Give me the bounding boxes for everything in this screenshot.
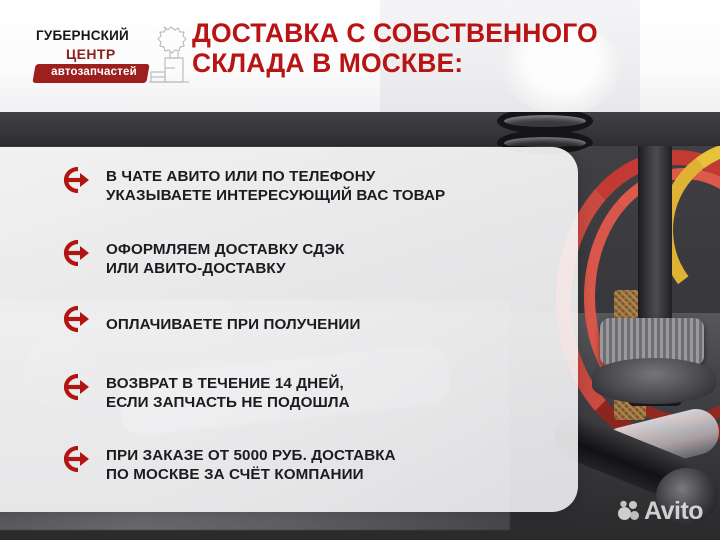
list-item: В ЧАТЕ АВИТО ИЛИ ПО ТЕЛЕФОНУ УКАЗЫВАЕТЕ …	[58, 150, 578, 222]
logo-line-2: ЦЕНТР	[66, 46, 116, 62]
list-item: ОПЛАЧИВАЕТЕ ПРИ ПОЛУЧЕНИИ	[58, 296, 578, 354]
list-item-label: ОПЛАЧИВАЕТЕ ПРИ ПОЛУЧЕНИИ	[106, 315, 360, 335]
circular-arrow-right-icon	[58, 164, 106, 208]
avito-dots-logo-icon	[618, 500, 640, 522]
list-item-label: В ЧАТЕ АВИТО ИЛИ ПО ТЕЛЕФОНУ УКАЗЫВАЕТЕ …	[106, 167, 445, 206]
avito-watermark: Avito	[618, 500, 703, 522]
circular-arrow-right-icon	[58, 237, 106, 281]
circular-arrow-right-icon	[58, 371, 106, 415]
logo-line-1: ГУБЕРНСКИЙ	[36, 28, 129, 43]
logo-banner-label: автозапчастей	[40, 66, 148, 78]
list-item: ОФОРМЛЯЕМ ДОСТАВКУ СДЭК ИЛИ АВИТО-ДОСТАВ…	[58, 222, 578, 296]
list-item-label: ВОЗВРАТ В ТЕЧЕНИЕ 14 ДНЕЙ, ЕСЛИ ЗАПЧАСТЬ…	[106, 374, 350, 413]
band-spring-overlay	[497, 112, 593, 146]
page-title: ДОСТАВКА С СОБСТВЕННОГО СКЛАДА В МОСКВЕ:	[192, 18, 692, 78]
headline-line-1: ДОСТАВКА С СОБСТВЕННОГО	[192, 18, 692, 48]
circular-arrow-right-icon	[58, 303, 106, 347]
list-item-label: ПРИ ЗАКАЗЕ ОТ 5000 РУБ. ДОСТАВКА ПО МОСК…	[106, 446, 396, 485]
avito-wordmark: Avito	[644, 500, 703, 522]
list-item: ПРИ ЗАКАЗЕ ОТ 5000 РУБ. ДОСТАВКА ПО МОСК…	[58, 432, 578, 498]
divider-band	[0, 112, 720, 146]
banner-header: ГУБЕРНСКИЙ ЦЕНТР автозапчастей ДОСТАВКА …	[0, 0, 720, 112]
headline-line-2: СКЛАДА В МОСКВЕ:	[192, 48, 692, 78]
circular-arrow-right-icon	[58, 443, 106, 487]
advertisement-banner: ГУБЕРНСКИЙ ЦЕНТР автозапчастей ДОСТАВКА …	[0, 0, 720, 540]
benefits-list: В ЧАТЕ АВИТО ИЛИ ПО ТЕЛЕФОНУ УКАЗЫВАЕТЕ …	[58, 150, 578, 498]
company-logo[interactable]: ГУБЕРНСКИЙ ЦЕНТР автозапчастей	[28, 22, 176, 90]
list-item: ВОЗВРАТ В ТЕЧЕНИЕ 14 ДНЕЙ, ЕСЛИ ЗАПЧАСТЬ…	[58, 354, 578, 432]
piston-gear-outline-icon	[146, 24, 190, 86]
list-item-label: ОФОРМЛЯЕМ ДОСТАВКУ СДЭК ИЛИ АВИТО-ДОСТАВ…	[106, 240, 345, 279]
wheel-hub-icon	[592, 358, 716, 404]
